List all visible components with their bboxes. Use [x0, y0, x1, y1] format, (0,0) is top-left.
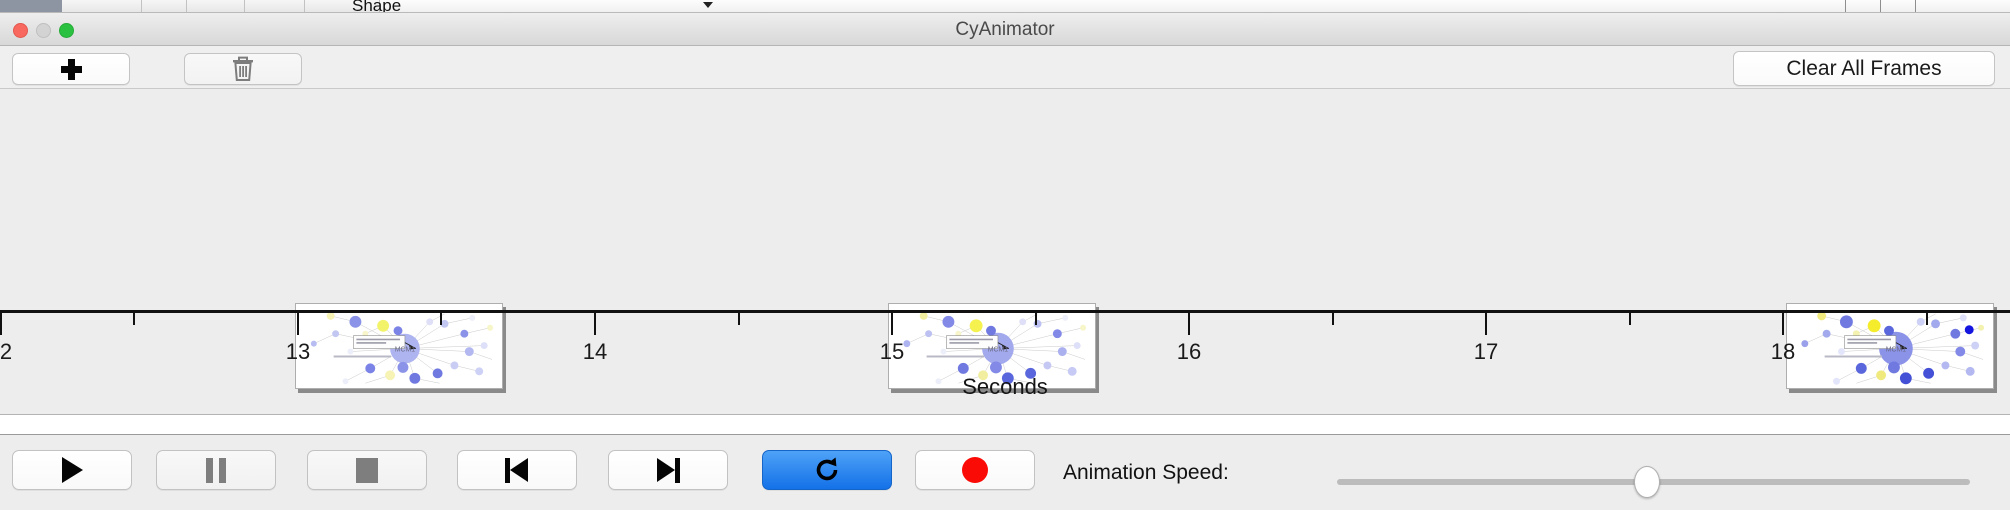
- add-frame-button[interactable]: [12, 53, 130, 85]
- axis-tick-label: 15: [880, 339, 904, 365]
- background-column-4: [245, 0, 305, 13]
- background-column-header-shape: Shape: [352, 0, 401, 13]
- axis-tick-label: 2: [0, 339, 12, 365]
- axis-tick-major: [0, 313, 2, 335]
- svg-text:MCM1: MCM1: [1886, 347, 1907, 354]
- background-divider-3: [1915, 0, 1916, 13]
- title-bar: CyAnimator: [0, 13, 2010, 46]
- axis-tick-minor: [1332, 313, 1334, 325]
- axis-tick-major: [1782, 313, 1784, 335]
- timeline-axis-line: [0, 310, 2010, 313]
- animation-speed-label: Animation Speed:: [1063, 461, 1229, 485]
- stop-button[interactable]: [307, 450, 427, 490]
- axis-tick-major: [1485, 313, 1487, 335]
- skip-next-icon: [656, 458, 680, 483]
- axis-tick-minor: [738, 313, 740, 325]
- skip-next-button[interactable]: [608, 450, 728, 490]
- record-button[interactable]: [915, 450, 1035, 490]
- axis-tick-label: 17: [1474, 339, 1498, 365]
- pause-button[interactable]: [156, 450, 276, 490]
- timeline-panel: MCM1: [0, 89, 2010, 415]
- axis-tick-label: 13: [286, 339, 310, 365]
- axis-tick-major: [891, 313, 893, 335]
- svg-text:MCM1: MCM1: [395, 347, 416, 354]
- cyanimator-window: Shape CyAnimator Clear All: [0, 0, 2010, 510]
- stop-icon: [356, 458, 378, 483]
- trash-icon: [232, 56, 254, 82]
- axis-tick-minor: [1035, 313, 1037, 325]
- skip-previous-icon: [505, 458, 529, 483]
- background-sort-caret-icon: [703, 2, 713, 8]
- play-icon: [62, 457, 83, 483]
- axis-tick-minor: [1926, 313, 1928, 325]
- axis-tick-label: 18: [1771, 339, 1795, 365]
- axis-tick-major: [594, 313, 596, 335]
- background-divider-2: [1880, 0, 1881, 13]
- timeline-track[interactable]: MCM1: [0, 89, 2010, 414]
- axis-tick-minor: [133, 313, 135, 325]
- axis-tick-minor: [1629, 313, 1631, 325]
- background-column-1: [62, 0, 142, 13]
- axis-tick-minor: [440, 313, 442, 325]
- background-column-3: [187, 0, 245, 13]
- playback-controls-bar: Animation Speed:: [0, 434, 2010, 510]
- svg-text:MCM1: MCM1: [988, 347, 1009, 354]
- axis-tick-major: [1188, 313, 1190, 335]
- background-column-2: [142, 0, 187, 13]
- background-sidebar: [0, 0, 62, 13]
- clear-all-frames-button[interactable]: Clear All Frames: [1733, 51, 1995, 86]
- axis-tick-label: 16: [1177, 339, 1201, 365]
- play-button[interactable]: [12, 450, 132, 490]
- record-icon: [962, 457, 988, 483]
- loop-button[interactable]: [762, 450, 892, 490]
- loop-icon: [813, 456, 841, 484]
- skip-previous-button[interactable]: [457, 450, 577, 490]
- background-divider-1: [1845, 0, 1846, 13]
- background-window-strip: Shape: [0, 0, 2010, 13]
- toolbar: Clear All Frames: [0, 46, 2010, 89]
- pause-icon: [206, 458, 226, 483]
- axis-title-seconds: Seconds: [0, 374, 2010, 400]
- delete-frame-button[interactable]: [184, 53, 302, 85]
- plus-icon: [61, 59, 82, 80]
- window-title: CyAnimator: [0, 19, 2010, 41]
- animation-speed-slider-thumb[interactable]: [1634, 466, 1660, 498]
- axis-tick-major: [297, 313, 299, 335]
- axis-tick-label: 14: [583, 339, 607, 365]
